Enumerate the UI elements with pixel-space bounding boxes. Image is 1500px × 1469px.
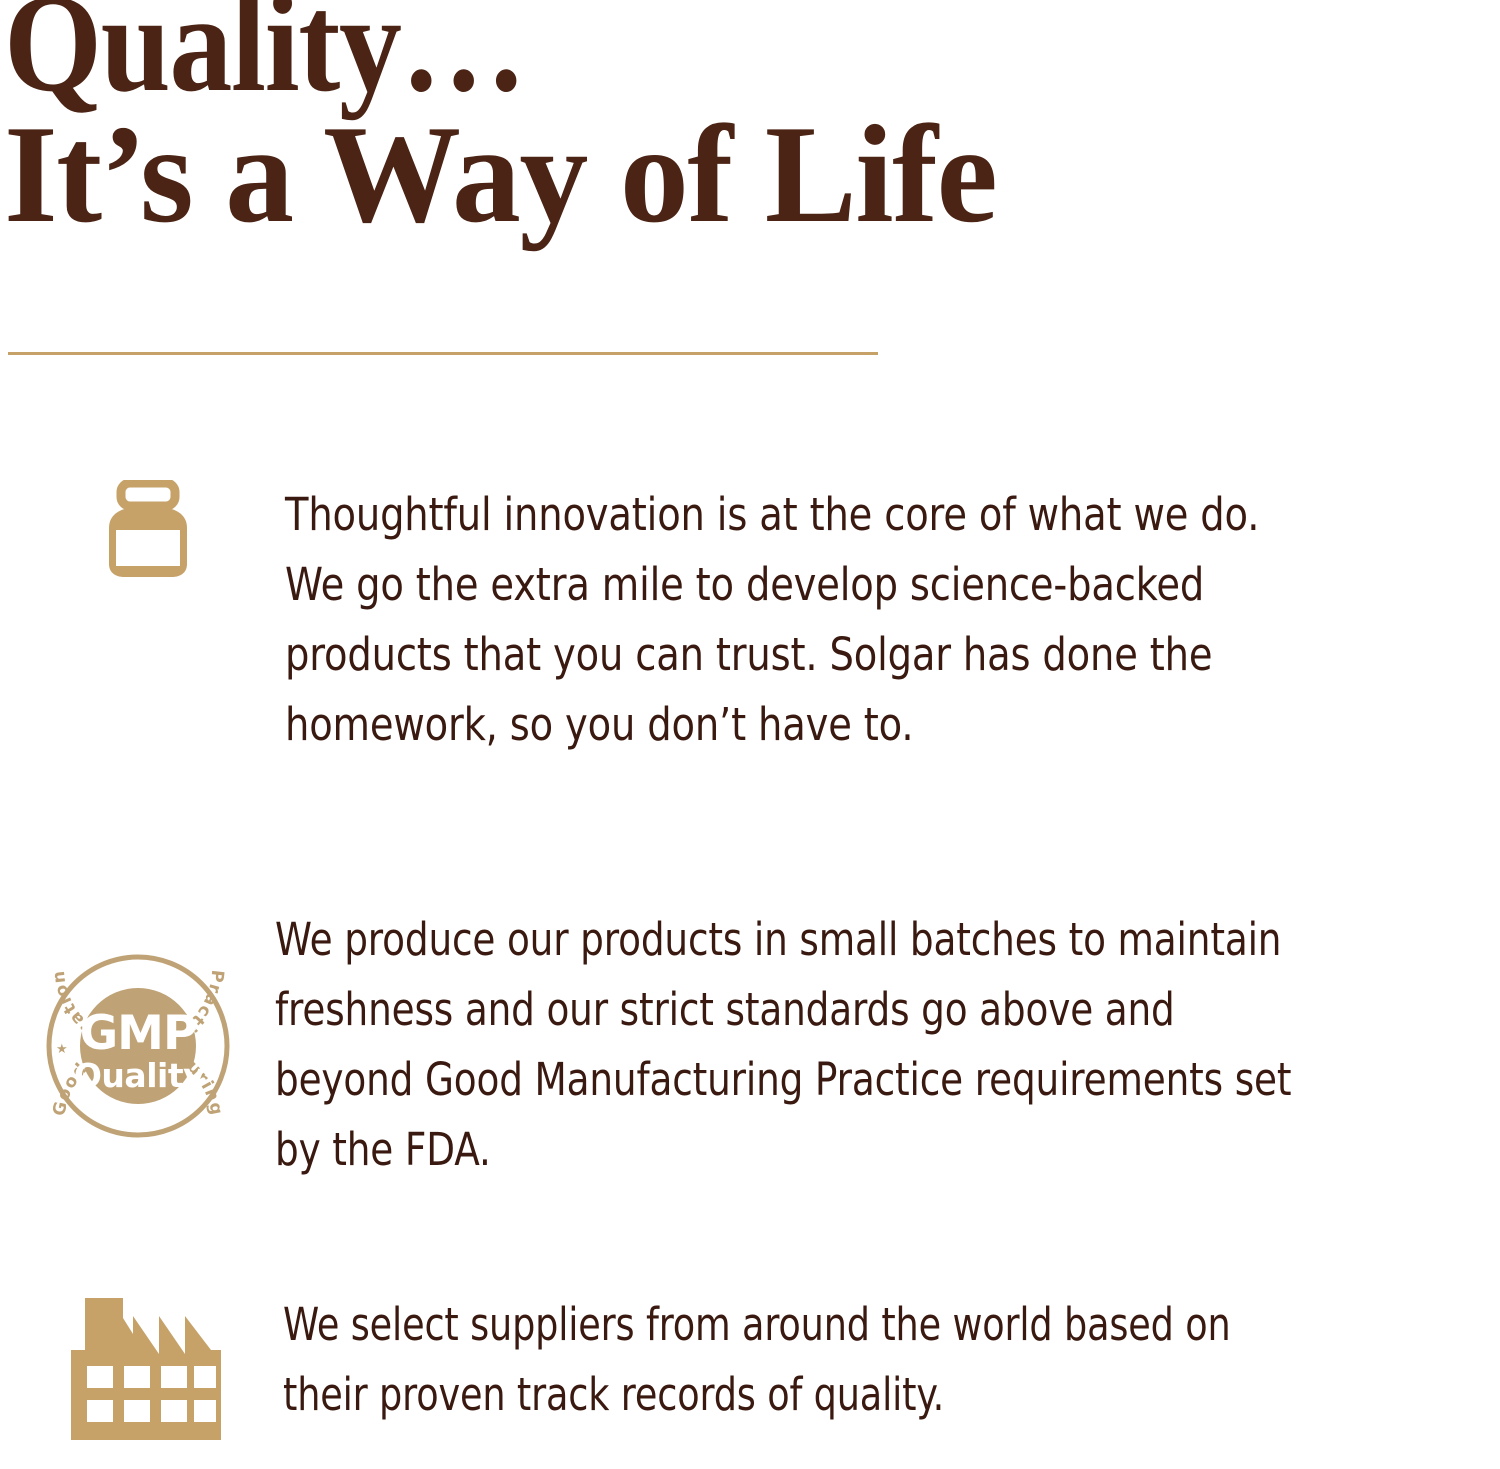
factory-icon [71, 1296, 221, 1447]
page-title-line-1: Quality… [4, 0, 1084, 109]
divider [8, 352, 878, 355]
feature-row-manufacturing: Good Manufacturing Practice Certificatio… [0, 905, 1500, 1185]
feature-row-suppliers: We select suppliers from around the worl… [0, 1290, 1500, 1447]
feature-icon-cell [0, 1290, 283, 1447]
feature-text-suppliers: We select suppliers from around the worl… [283, 1290, 1297, 1430]
feature-icon-cell [0, 480, 285, 585]
gmp-quality-seal-icon: Good Manufacturing Practice Certificatio… [42, 953, 234, 1139]
seal-star-icon: ★ [56, 1042, 68, 1057]
supplement-bottle-icon [88, 480, 208, 585]
feature-text-manufacturing: We produce our products in small batches… [275, 905, 1298, 1185]
feature-text-innovation: Thoughtful innovation is at the core of … [285, 480, 1295, 760]
seal-center-gmp: GMP [79, 1006, 196, 1061]
page-title-line-2: It’s a Way of Life [4, 109, 1186, 240]
page-title: Quality… It’s a Way of Life [4, 0, 1204, 240]
feature-row-innovation: Thoughtful innovation is at the core of … [0, 480, 1480, 760]
feature-icon-cell: Good Manufacturing Practice Certificatio… [0, 905, 275, 1139]
seal-center-quality: Quality [73, 1056, 203, 1095]
